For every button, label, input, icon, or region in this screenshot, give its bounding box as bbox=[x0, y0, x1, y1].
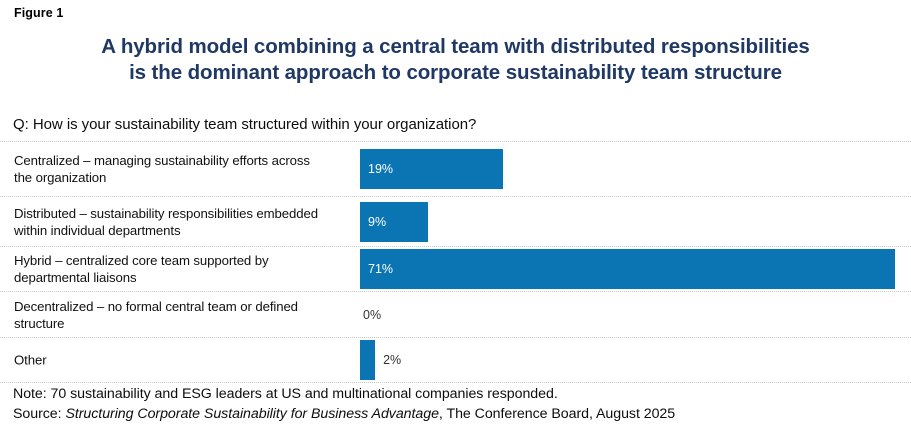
bar-category-label: Other bbox=[14, 352, 350, 369]
figure-footnotes: Note: 70 sustainability and ESG leaders … bbox=[13, 384, 675, 424]
bar-fill bbox=[360, 249, 895, 289]
bar-value-label: 19% bbox=[368, 162, 393, 176]
bar-category-label-line-2: departmental liaisons bbox=[14, 269, 350, 286]
bar-row: Other2% bbox=[0, 337, 911, 383]
bar-track: 9% bbox=[360, 202, 900, 242]
figure-title-line-2: is the dominant approach to corporate su… bbox=[10, 60, 901, 86]
figure-number-label: Figure 1 bbox=[14, 6, 63, 20]
bar-category-label-line-1: Decentralized – no formal central team o… bbox=[14, 298, 350, 315]
bar-value-label: 0% bbox=[363, 308, 381, 322]
bar-fill bbox=[360, 340, 375, 380]
bar-track: 71% bbox=[360, 249, 900, 289]
note-line: Note: 70 sustainability and ESG leaders … bbox=[13, 384, 675, 404]
bar-category-label-line-1: Distributed – sustainability responsibil… bbox=[14, 205, 350, 222]
bar-row: Hybrid – centralized core team supported… bbox=[0, 246, 911, 291]
bar-category-label-line-2: within individual departments bbox=[14, 222, 350, 239]
bar-value-label: 2% bbox=[383, 353, 401, 367]
bar-value-label: 71% bbox=[368, 262, 393, 276]
bar-row: Centralized – managing sustainability ef… bbox=[0, 141, 911, 196]
bar-track: 19% bbox=[360, 149, 900, 189]
bar-track: 0% bbox=[360, 295, 900, 335]
bar-track: 2% bbox=[360, 340, 900, 380]
bar-category-label: Centralized – managing sustainability ef… bbox=[14, 152, 350, 186]
source-report-title: Structuring Corporate Sustainability for… bbox=[65, 406, 438, 422]
survey-question-text: Q: How is your sustainability team struc… bbox=[13, 116, 476, 133]
figure-title: A hybrid model combining a central team … bbox=[10, 34, 901, 86]
bar-chart: Centralized – managing sustainability ef… bbox=[0, 141, 911, 337]
bar-row: Distributed – sustainability responsibil… bbox=[0, 196, 911, 246]
source-prefix: Source: bbox=[13, 406, 65, 422]
bar-category-label: Decentralized – no formal central team o… bbox=[14, 298, 350, 332]
figure-title-line-1: A hybrid model combining a central team … bbox=[10, 34, 901, 60]
bar-category-label: Distributed – sustainability responsibil… bbox=[14, 205, 350, 239]
bar-category-label-line-2: structure bbox=[14, 315, 350, 332]
note-text: Note: 70 sustainability and ESG leaders … bbox=[13, 386, 558, 402]
source-suffix: , The Conference Board, August 2025 bbox=[439, 406, 675, 422]
bar-category-label-line-2: the organization bbox=[14, 169, 350, 186]
bar-category-label-line-1: Hybrid – centralized core team supported… bbox=[14, 252, 350, 269]
bar-value-label: 9% bbox=[368, 215, 386, 229]
bar-category-label: Hybrid – centralized core team supported… bbox=[14, 252, 350, 286]
source-line: Source: Structuring Corporate Sustainabi… bbox=[13, 404, 675, 424]
bar-category-label-line-1: Centralized – managing sustainability ef… bbox=[14, 152, 350, 169]
figure-container: Figure 1 A hybrid model combining a cent… bbox=[0, 0, 911, 431]
bar-row: Decentralized – no formal central team o… bbox=[0, 291, 911, 337]
